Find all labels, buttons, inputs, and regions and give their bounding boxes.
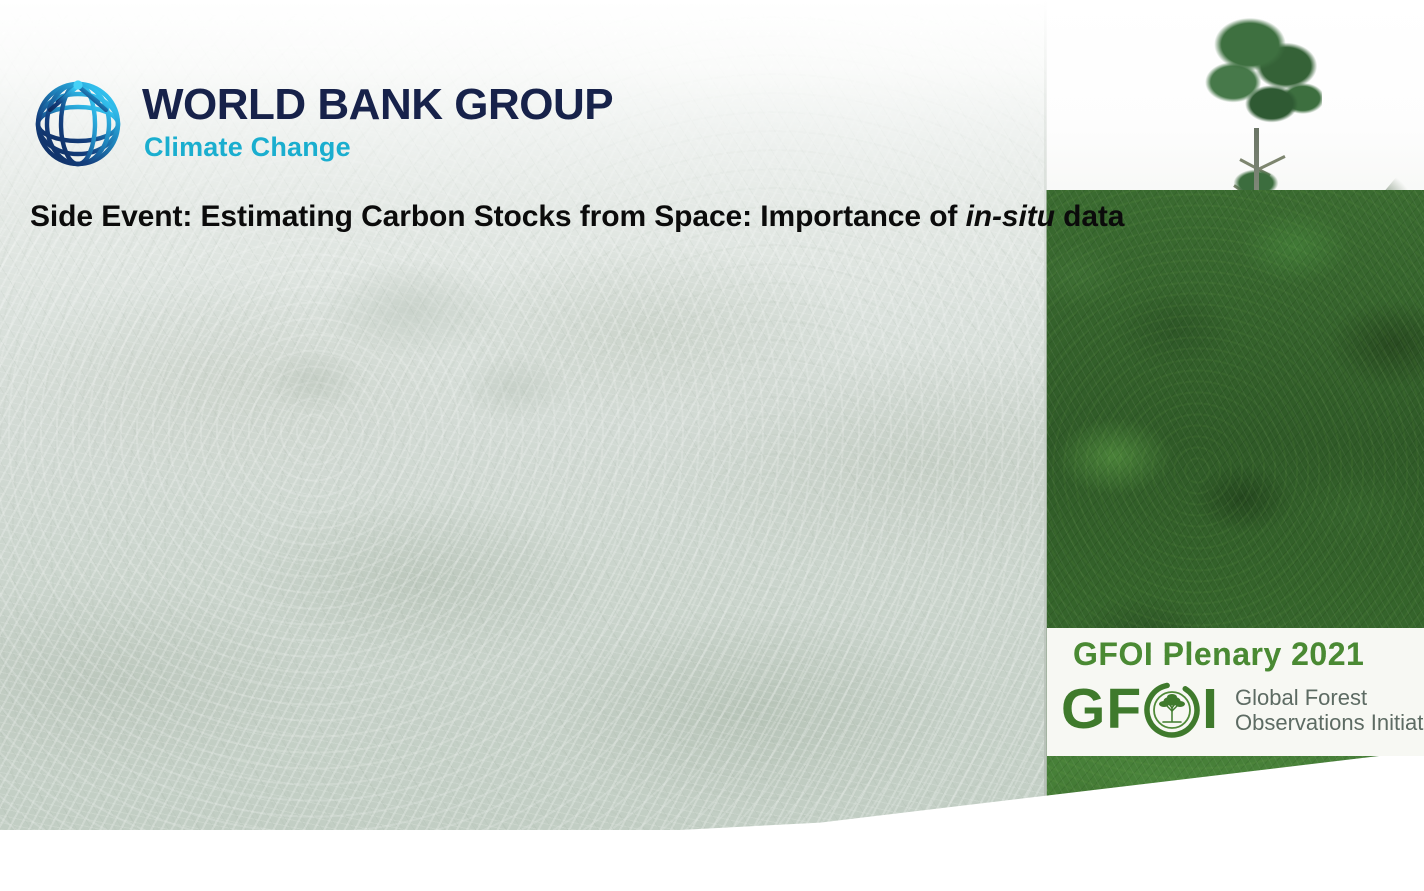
gfoi-plenary-heading: GFOI Plenary 2021 <box>1073 636 1364 673</box>
gfoi-letter-f: F <box>1106 681 1142 738</box>
globe-icon <box>28 72 128 172</box>
slide-title-suffix: data <box>1055 200 1125 233</box>
faded-emergent-tree <box>250 230 570 590</box>
gfoi-banner: GFOI Plenary 2021 GF <box>1047 628 1424 756</box>
slide-title: Side Event: Estimating Carbon Stocks fro… <box>30 200 1124 233</box>
slide-title-prefix: Side Event: Estimating Carbon Stocks fro… <box>30 200 966 233</box>
gfoi-tagline-line2: Observations Initiative <box>1235 710 1424 735</box>
gfoi-tagline: Global Forest Observations Initiative <box>1235 685 1424 735</box>
world-bank-name: WORLD BANK GROUP <box>142 83 613 127</box>
tree-in-circle-icon <box>1143 680 1201 738</box>
slide-title-italic: in-situ <box>966 200 1055 233</box>
world-bank-group-logo: WORLD BANK GROUP Climate Change <box>28 72 613 172</box>
slide-canvas: WORLD BANK GROUP Climate Change Side Eve… <box>0 0 1424 891</box>
gfoi-letter-g: G <box>1061 681 1106 738</box>
world-bank-wordmark: WORLD BANK GROUP Climate Change <box>142 83 613 161</box>
gfoi-tagline-line1: Global Forest <box>1235 685 1424 710</box>
gfoi-letter-i: I <box>1202 681 1219 738</box>
background-image-right-wall <box>1046 0 1424 891</box>
tree-crown <box>1202 12 1322 147</box>
gfoi-letter-o <box>1143 680 1201 738</box>
world-bank-subtitle: Climate Change <box>144 134 613 161</box>
gfoi-logomark: GF <box>1061 680 1219 738</box>
gfoi-logo-lockup: GF <box>1061 680 1424 738</box>
